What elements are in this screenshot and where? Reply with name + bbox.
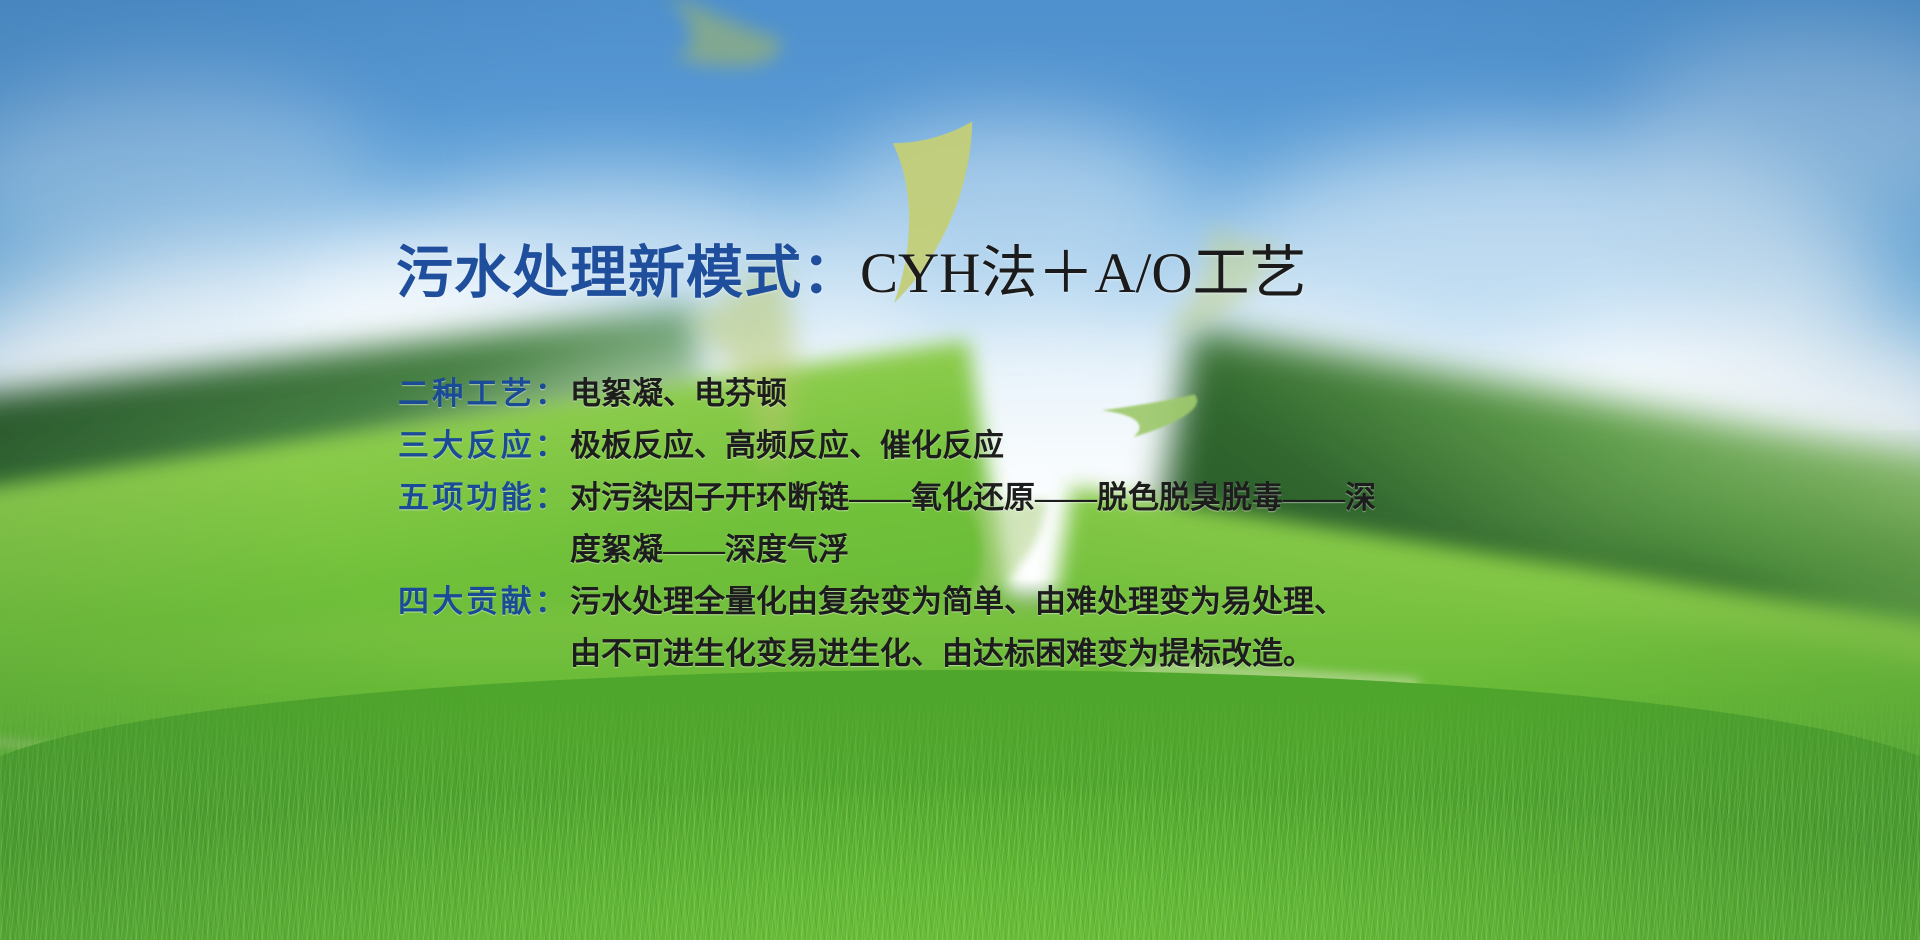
title-rest: CYH法＋A/O工艺 — [860, 242, 1307, 305]
key-point-label: 四大贡献： — [398, 576, 566, 628]
page-title: 污水处理新模式：CYH法＋A/O工艺 — [396, 244, 1307, 304]
key-point-row: 四大贡献：由不可进生化变易进生化、由达标困难变为提标改造。 — [398, 628, 1376, 680]
key-point-row: 五项功能：对污染因子开环断链——氧化还原——脱色脱臭脱毒——深 — [398, 472, 1376, 524]
key-point-text: 度絮凝——深度气浮 — [566, 524, 849, 576]
key-point-text: 污水处理全量化由复杂变为简单、由难处理变为易处理、 — [566, 576, 1345, 628]
key-point-text: 极板反应、高频反应、催化反应 — [566, 420, 1004, 472]
key-point-text: 由不可进生化变易进生化、由达标困难变为提标改造。 — [566, 628, 1314, 680]
key-points-list: 二种工艺：电絮凝、电芬顿三大反应：极板反应、高频反应、催化反应五项功能：对污染因… — [398, 368, 1376, 680]
key-point-row: 四大贡献：污水处理全量化由复杂变为简单、由难处理变为易处理、 — [398, 576, 1376, 628]
key-point-text: 电絮凝、电芬顿 — [566, 368, 787, 420]
grass-texture — [0, 690, 1920, 940]
slide-canvas: 污水处理新模式：CYH法＋A/O工艺 二种工艺：电絮凝、电芬顿三大反应：极板反应… — [0, 0, 1920, 940]
title-highlight: 污水处理新模式： — [396, 242, 860, 305]
key-point-label: 五项功能： — [398, 472, 566, 524]
key-point-row: 五项功能：度絮凝——深度气浮 — [398, 524, 1376, 576]
key-point-label: 三大反应： — [398, 420, 566, 472]
key-point-row: 二种工艺：电絮凝、电芬顿 — [398, 368, 1376, 420]
key-point-row: 三大反应：极板反应、高频反应、催化反应 — [398, 420, 1376, 472]
key-point-text: 对污染因子开环断链——氧化还原——脱色脱臭脱毒——深 — [566, 472, 1376, 524]
key-point-label: 二种工艺： — [398, 368, 566, 420]
